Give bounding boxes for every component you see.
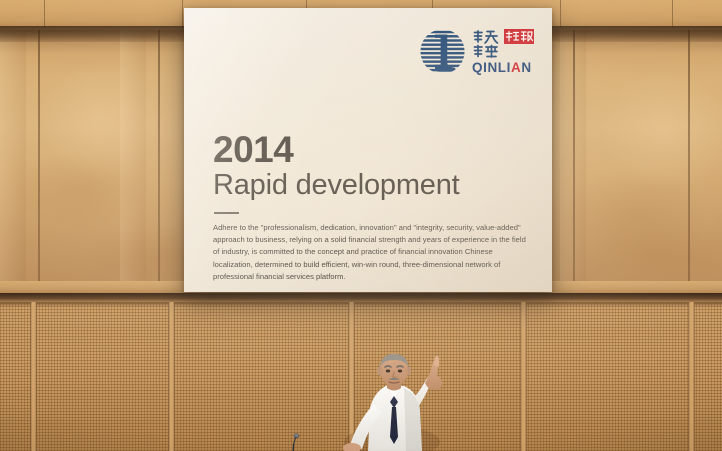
qinlian-circular-emblem-icon xyxy=(419,28,466,75)
projection-screen: QINLIAN 2014 Rapid development Adhere to… xyxy=(184,8,552,292)
podium-microphone-icon xyxy=(289,432,303,451)
qinlian-logo: QINLIAN xyxy=(419,28,534,75)
screenshot-root: QINLIAN 2014 Rapid development Adhere to… xyxy=(0,0,722,451)
logo-latin-accent: A xyxy=(511,60,521,75)
slide-paragraph: Adhere to the "professionalism, dedicati… xyxy=(213,222,530,283)
chinese-characters-qinlian-icon xyxy=(472,29,500,59)
slide-year: 2014 xyxy=(213,132,530,168)
logo-latin-lead: QINLI xyxy=(472,60,511,75)
logo-latin-name: QINLIAN xyxy=(472,61,534,75)
wall-reveal-shadow xyxy=(0,293,722,302)
presenter-figure xyxy=(330,352,460,451)
chinese-badge-konggu-icon xyxy=(504,29,534,44)
slide-divider-rule xyxy=(214,212,239,214)
logo-latin-tail: N xyxy=(521,60,531,75)
slide-content: 2014 Rapid development Adhere to the "pr… xyxy=(213,132,530,283)
slide-headline: Rapid development xyxy=(213,170,530,201)
